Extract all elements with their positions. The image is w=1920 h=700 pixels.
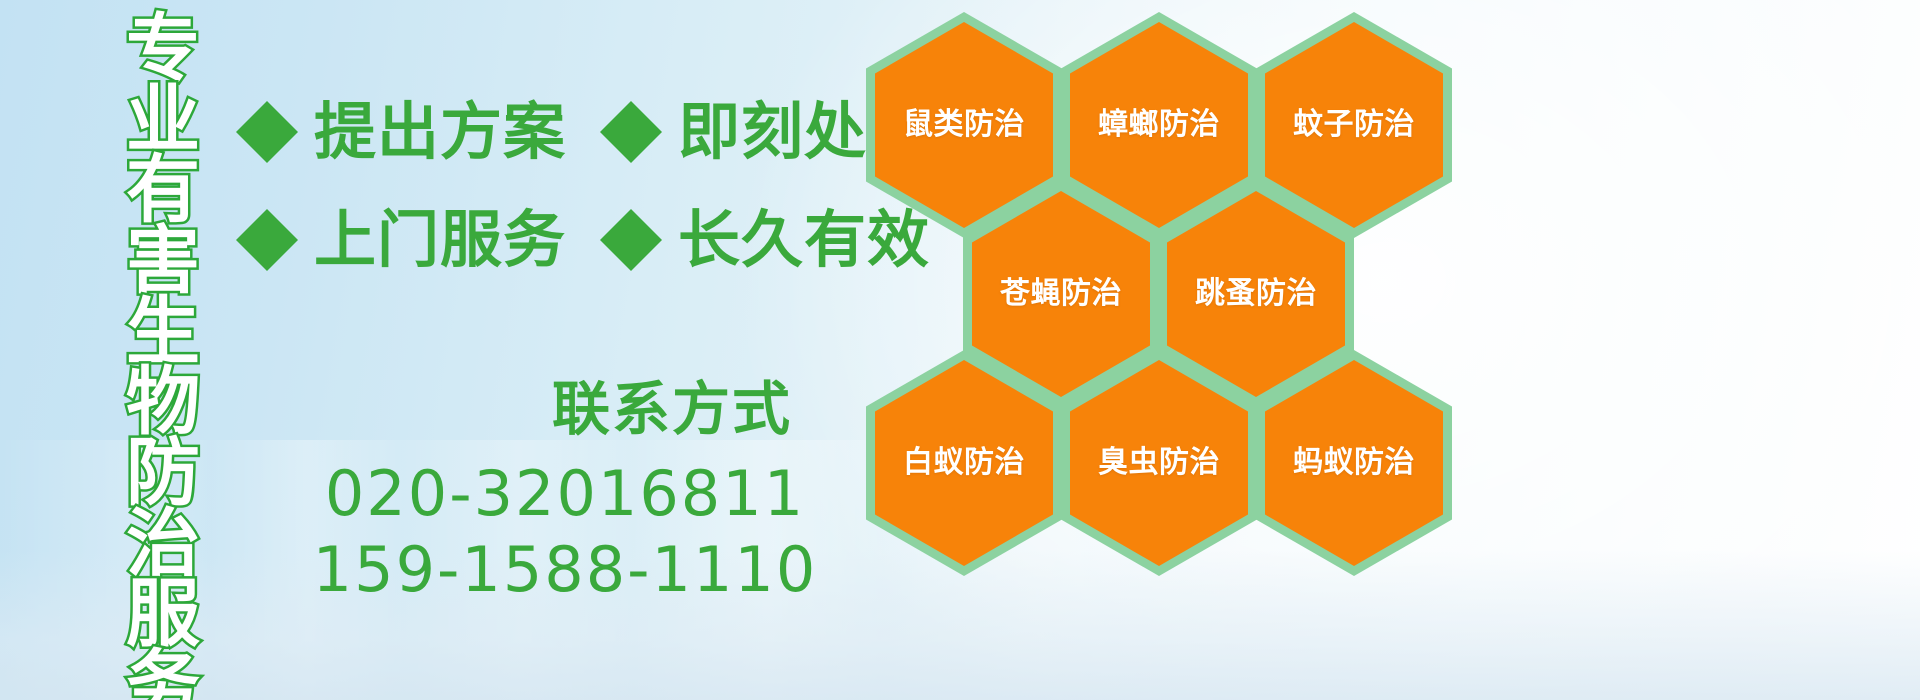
vertical-headline-char-9: 务 xyxy=(126,650,200,700)
hex-label: 鼠类防治 xyxy=(903,110,1025,140)
hex-label: 白蚁防治 xyxy=(903,448,1025,478)
feature-list: 提出方案 即刻处理 上门服务 长久有效 xyxy=(236,78,876,294)
hex-inner: 蟑螂防治 xyxy=(1070,22,1248,228)
hex-inner: 鼠类防治 xyxy=(875,22,1053,228)
hex-inner: 蚂蚁防治 xyxy=(1265,360,1443,566)
vertical-headline-char-4: 生 xyxy=(126,297,200,368)
hex-label: 苍蝇防治 xyxy=(1000,279,1122,309)
contact-block: 联系方式 020-32016811 159-1588-1110 xyxy=(300,380,830,607)
feature-item-onsite-service: 上门服务 xyxy=(236,209,566,271)
vertical-headline-char-3: 害 xyxy=(126,226,200,297)
vertical-headline-char-2: 有 xyxy=(126,155,200,226)
hex-label: 蟑螂防治 xyxy=(1098,110,1220,140)
hex-label: 臭虫防治 xyxy=(1098,448,1220,478)
feature-label: 上门服务 xyxy=(314,209,566,271)
vertical-headline-char-5: 物 xyxy=(126,367,200,438)
pest-control-banner: 专 业 有 害 生 物 防 治 服 务 提出方案 即刻处理 上门服务 xyxy=(0,0,1920,700)
diamond-icon xyxy=(236,70,298,132)
hex-label: 蚂蚁防治 xyxy=(1293,448,1415,478)
hex-inner: 白蚁防治 xyxy=(875,360,1053,566)
contact-phone-landline[interactable]: 020-32016811 xyxy=(300,456,830,532)
vertical-headline-char-7: 治 xyxy=(126,509,200,580)
vertical-headline-char-6: 防 xyxy=(126,438,200,509)
feature-item-propose-plan: 提出方案 xyxy=(236,101,566,163)
vertical-headline-char-0: 专 xyxy=(126,14,200,85)
feature-row-1: 提出方案 即刻处理 xyxy=(236,78,876,186)
feature-label: 提出方案 xyxy=(314,101,566,163)
hex-inner: 苍蝇防治 xyxy=(972,191,1150,397)
hex-inner: 蚊子防治 xyxy=(1265,22,1443,228)
hex-inner: 跳蚤防治 xyxy=(1167,191,1345,397)
service-hex-grid: 鼠类防治 蟑螂防治 蚊子防治 苍蝇防治 跳蚤防治 白蚁防治 xyxy=(858,0,1458,700)
hex-label: 跳蚤防治 xyxy=(1195,279,1317,309)
vertical-headline: 专 业 有 害 生 物 防 治 服 务 xyxy=(104,14,222,686)
diamond-icon xyxy=(600,178,662,240)
feature-row-2: 上门服务 长久有效 xyxy=(236,186,876,294)
hex-inner: 臭虫防治 xyxy=(1070,360,1248,566)
vertical-headline-char-8: 服 xyxy=(126,579,200,650)
vertical-headline-char-1: 业 xyxy=(126,85,200,156)
diamond-icon xyxy=(600,70,662,132)
contact-phone-mobile[interactable]: 159-1588-1110 xyxy=(300,532,830,608)
contact-title: 联系方式 xyxy=(300,380,830,438)
diamond-icon xyxy=(236,178,298,240)
hex-label: 蚊子防治 xyxy=(1293,110,1415,140)
